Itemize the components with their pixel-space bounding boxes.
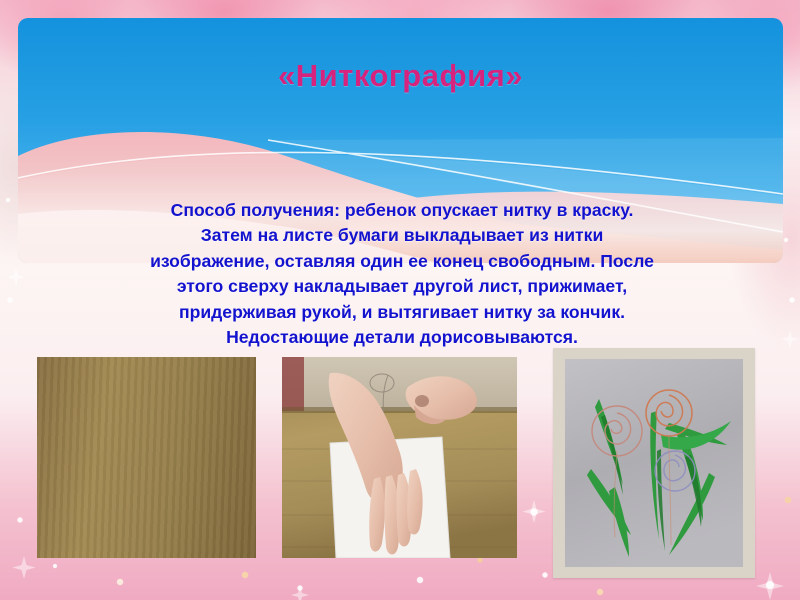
wooden-table-surface [37,357,256,558]
photo-step-2-content [282,357,517,558]
body-line: Затем на листе бумаги выкладывает из нит… [72,223,732,248]
photo-step-2 [282,357,517,558]
photo-step-1 [37,357,256,558]
body-line: Недостающие детали дорисовываются. [72,325,732,350]
body-line: придерживая рукой, и вытягивает нитку за… [72,300,732,325]
body-line: Способ получения: ребенок опускает нитку… [72,198,732,223]
body-line: этого сверху накладывает другой лист, пр… [72,274,732,299]
body-line: изображение, оставляя один ее конец своб… [72,249,732,274]
body-text: Способ получения: ребенок опускает нитку… [72,198,732,350]
slide-canvas: «Ниткография» Способ получения: ребенок … [0,0,800,600]
page-title: «Ниткография» [18,58,783,94]
photo-result-frame [553,348,755,578]
photo-result-content [565,359,743,567]
photo-result [565,359,743,567]
